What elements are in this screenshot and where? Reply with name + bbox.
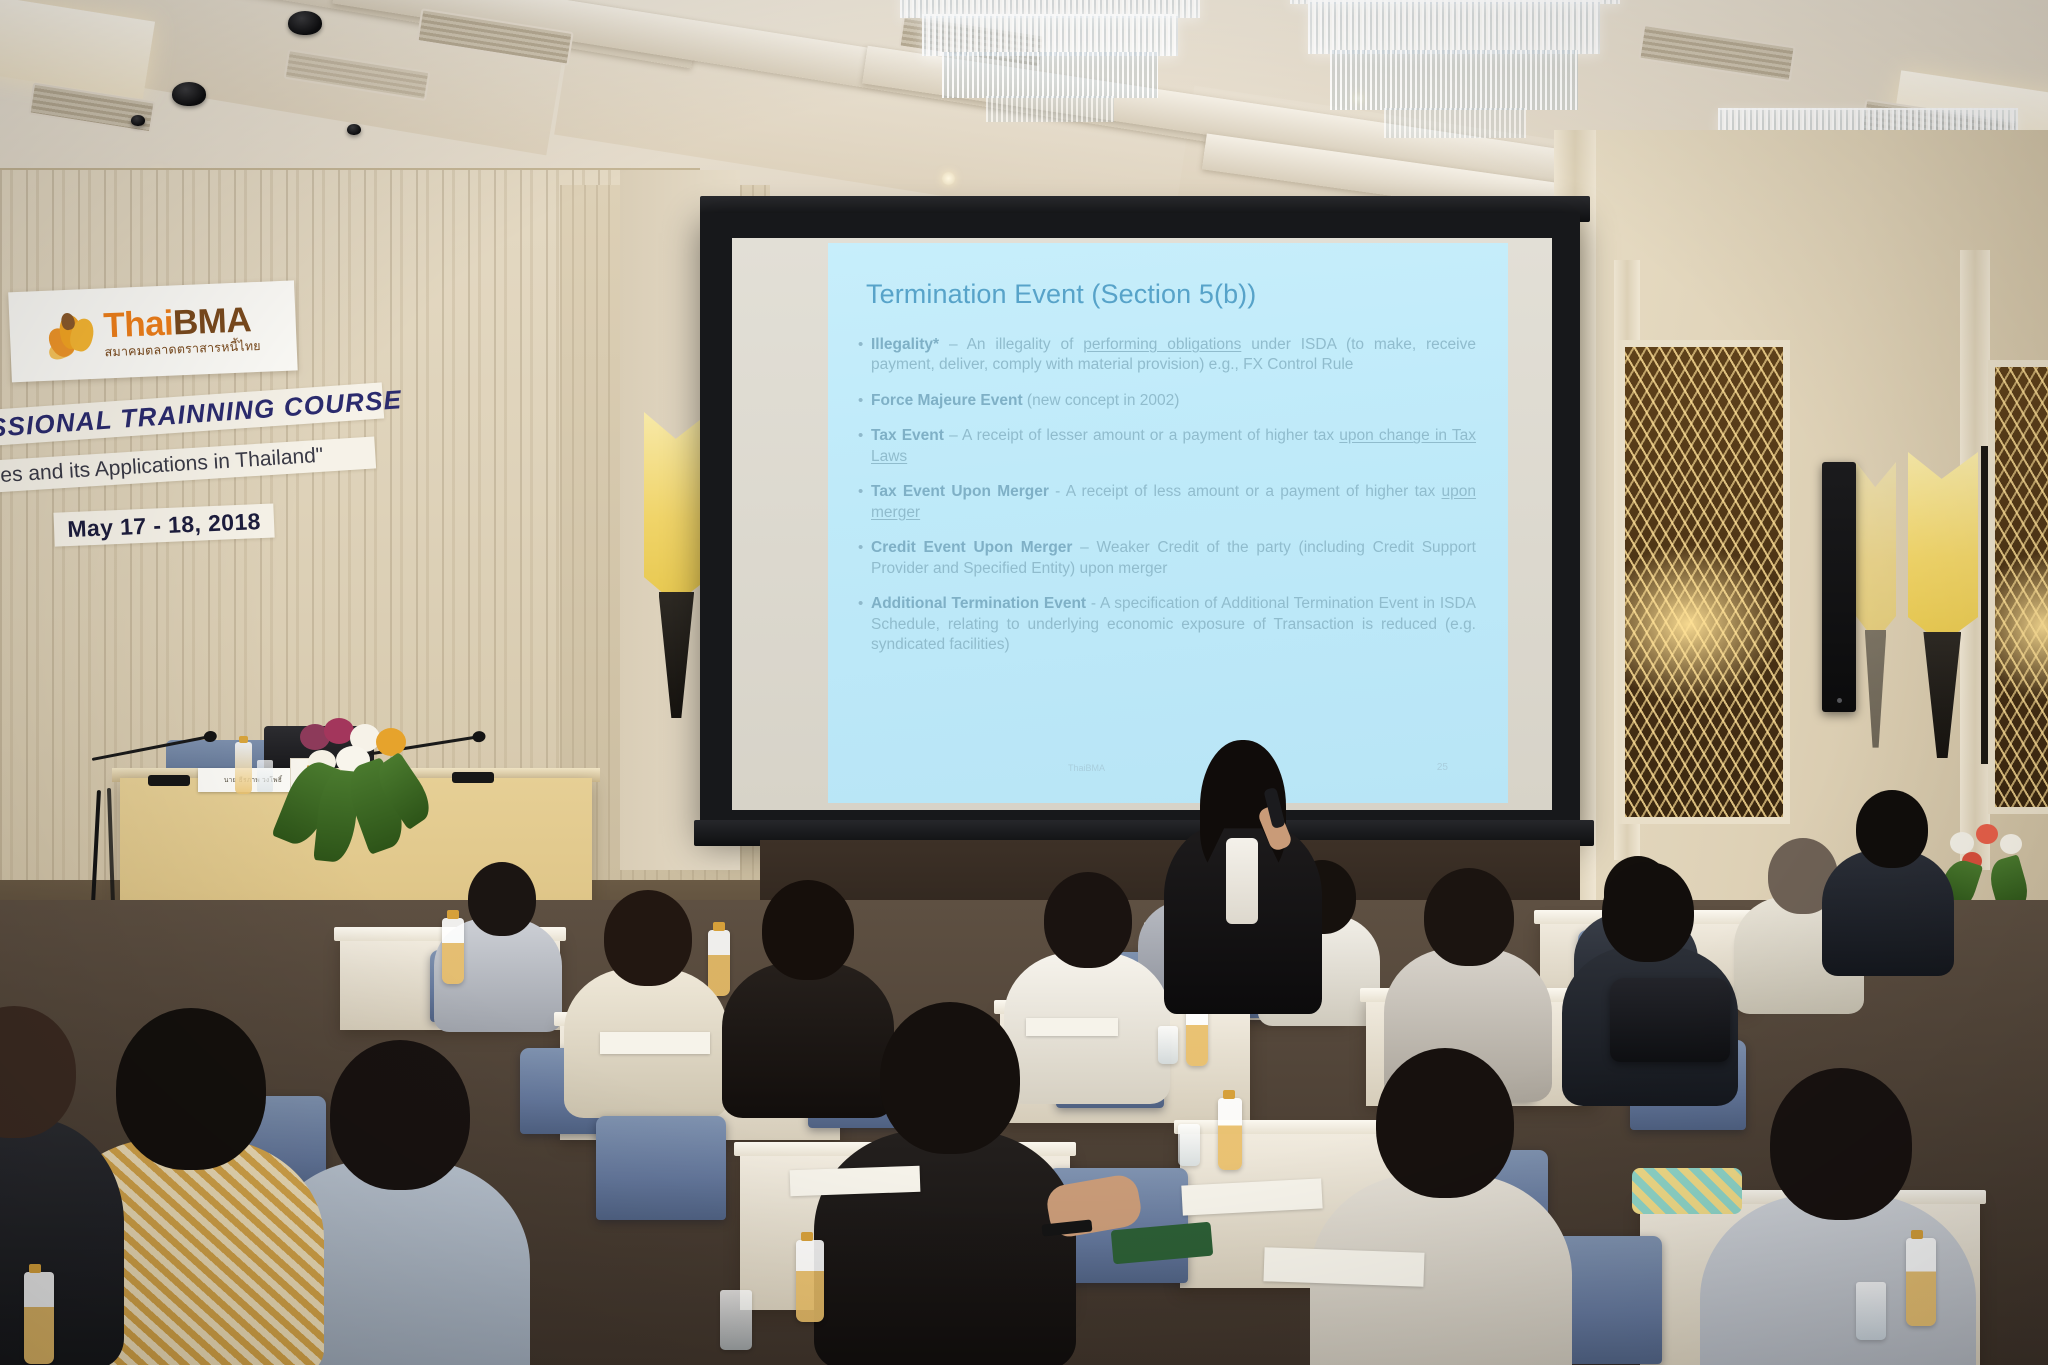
slide-bullet-item: • Credit Event Upon Merger – Weaker Cred…: [858, 538, 1476, 579]
bullet-text: Credit Event Upon Merger – Weaker Credit…: [871, 538, 1476, 579]
bullet-underline-1: performing obligations: [1083, 336, 1241, 353]
water-bottle: [442, 918, 464, 984]
banner-subtitle-line: erivatives and its Applications in Thail…: [0, 436, 376, 496]
microphone-base-left: [148, 775, 190, 786]
bullet-lead: Additional Termination Event: [871, 595, 1086, 612]
wall-sconce-right-far: [1856, 462, 1896, 742]
water-bottle: [708, 930, 730, 996]
decorative-doorway-right: [1988, 360, 2048, 814]
paper-handout: [600, 1032, 710, 1054]
bullet-text: Illegality* – An illegality of performin…: [871, 335, 1476, 376]
slide-bullet-item: • Illegality* – An illegality of perform…: [858, 335, 1476, 376]
slide-page-number: 25: [1437, 762, 1448, 773]
paper-handout: [1263, 1247, 1424, 1287]
bullet-marker: •: [858, 482, 871, 523]
slide-title: Termination Event (Section 5(b)): [866, 279, 1256, 310]
bullet-body-1: (new concept in 2002): [1027, 392, 1180, 409]
handbag: [1610, 978, 1730, 1062]
bullet-dash: -: [1086, 595, 1100, 612]
bullet-dash: –: [944, 427, 962, 444]
security-camera-icon: [172, 82, 206, 106]
bullet-lead: Tax Event Upon Merger: [871, 483, 1049, 500]
lotus-icon: [45, 308, 99, 362]
bullet-lead: Tax Event: [871, 427, 944, 444]
drinking-glass: [1856, 1282, 1886, 1340]
conference-room-photo: ThaiBMA สมาคมตลาดตราสารหนี้ไทย OFESSIONA…: [0, 0, 2048, 1365]
water-bottle: [1218, 1098, 1242, 1170]
brand-bma: BMA: [172, 300, 251, 342]
bullet-marker: •: [858, 335, 871, 376]
bullet-body-1: A receipt of lesser amount or a payment …: [962, 427, 1339, 444]
bullet-dash: -: [1049, 483, 1066, 500]
water-bottle: [796, 1240, 824, 1322]
brand-thai: Thai: [103, 303, 174, 345]
name-card-text: นาย ธีรภาพ วงโพธิ์: [224, 775, 282, 785]
bullet-dash: –: [1072, 539, 1096, 556]
security-camera-icon: [288, 11, 322, 35]
paper-handout: [1026, 1018, 1118, 1036]
air-vent: [1638, 24, 1796, 82]
presentation-slide: Termination Event (Section 5(b)) • Illeg…: [828, 243, 1508, 803]
head-table-glass: [257, 760, 273, 792]
downlight-icon: [942, 172, 955, 185]
decorative-doorway-left: [1618, 340, 1790, 824]
bullet-lead: Force Majeure Event: [871, 392, 1023, 409]
microphone-base-right: [452, 772, 494, 783]
wall-sconce-right: [1908, 452, 1978, 752]
banner-date-line: May 17 - 18, 2018: [53, 503, 274, 546]
slide-bullet-item: • Tax Event Upon Merger - A receipt of l…: [858, 482, 1476, 523]
drinking-glass: [1178, 1124, 1200, 1166]
bullet-text: Additional Termination Event - A specifi…: [871, 594, 1476, 655]
bullet-body-1: A receipt of less amount or a payment of…: [1066, 483, 1442, 500]
paper-handout: [790, 1166, 921, 1197]
bullet-marker: •: [858, 538, 871, 579]
drinking-glass: [720, 1290, 752, 1350]
slide-bullet-list: • Illegality* – An illegality of perform…: [858, 335, 1476, 670]
bullet-text: Force Majeure Event (new concept in 2002…: [871, 391, 1179, 411]
ceiling-sensor-icon: [131, 115, 145, 126]
banner-subtitle-text: erivatives and its Applications in Thail…: [0, 444, 324, 493]
bullet-lead: Illegality*: [871, 336, 939, 353]
slide-footer: ThaiBMA: [1068, 763, 1105, 773]
wall-speaker: [1822, 462, 1856, 712]
brand-wordmark: ThaiBMA: [103, 302, 261, 344]
water-bottle: [1906, 1238, 1936, 1326]
bullet-marker: •: [858, 391, 871, 411]
presenter: [1180, 740, 1310, 990]
event-banner: ThaiBMA สมาคมตลาดตราสารหนี้ไทย OFESSIONA…: [0, 259, 381, 596]
attendee-chair: [596, 1116, 726, 1220]
slide-bullet-item: • Force Majeure Event (new concept in 20…: [858, 391, 1476, 411]
head-table-bottle: [235, 742, 252, 794]
bullet-dash: –: [939, 336, 967, 353]
bullet-text: Tax Event Upon Merger - A receipt of les…: [871, 482, 1476, 523]
bullet-lead: Credit Event Upon Merger: [871, 539, 1072, 556]
folded-cloth: [1632, 1168, 1742, 1214]
bullet-text: Tax Event – A receipt of lesser amount o…: [871, 426, 1476, 467]
bullet-body-1: An illegality of: [967, 336, 1084, 353]
drinking-glass: [1158, 1026, 1178, 1064]
bullet-marker: •: [858, 594, 871, 655]
slide-bullet-item: • Additional Termination Event - A speci…: [858, 594, 1476, 655]
ceiling-sensor-icon: [347, 124, 361, 135]
banner-date-text: May 17 - 18, 2018: [67, 508, 261, 543]
water-bottle: [24, 1272, 54, 1364]
thaibma-logo: ThaiBMA สมาคมตลาดตราสารหนี้ไทย: [8, 280, 298, 382]
bullet-marker: •: [858, 426, 871, 467]
slide-bullet-item: • Tax Event – A receipt of lesser amount…: [858, 426, 1476, 467]
floral-arrangement-head-table: [290, 718, 450, 868]
